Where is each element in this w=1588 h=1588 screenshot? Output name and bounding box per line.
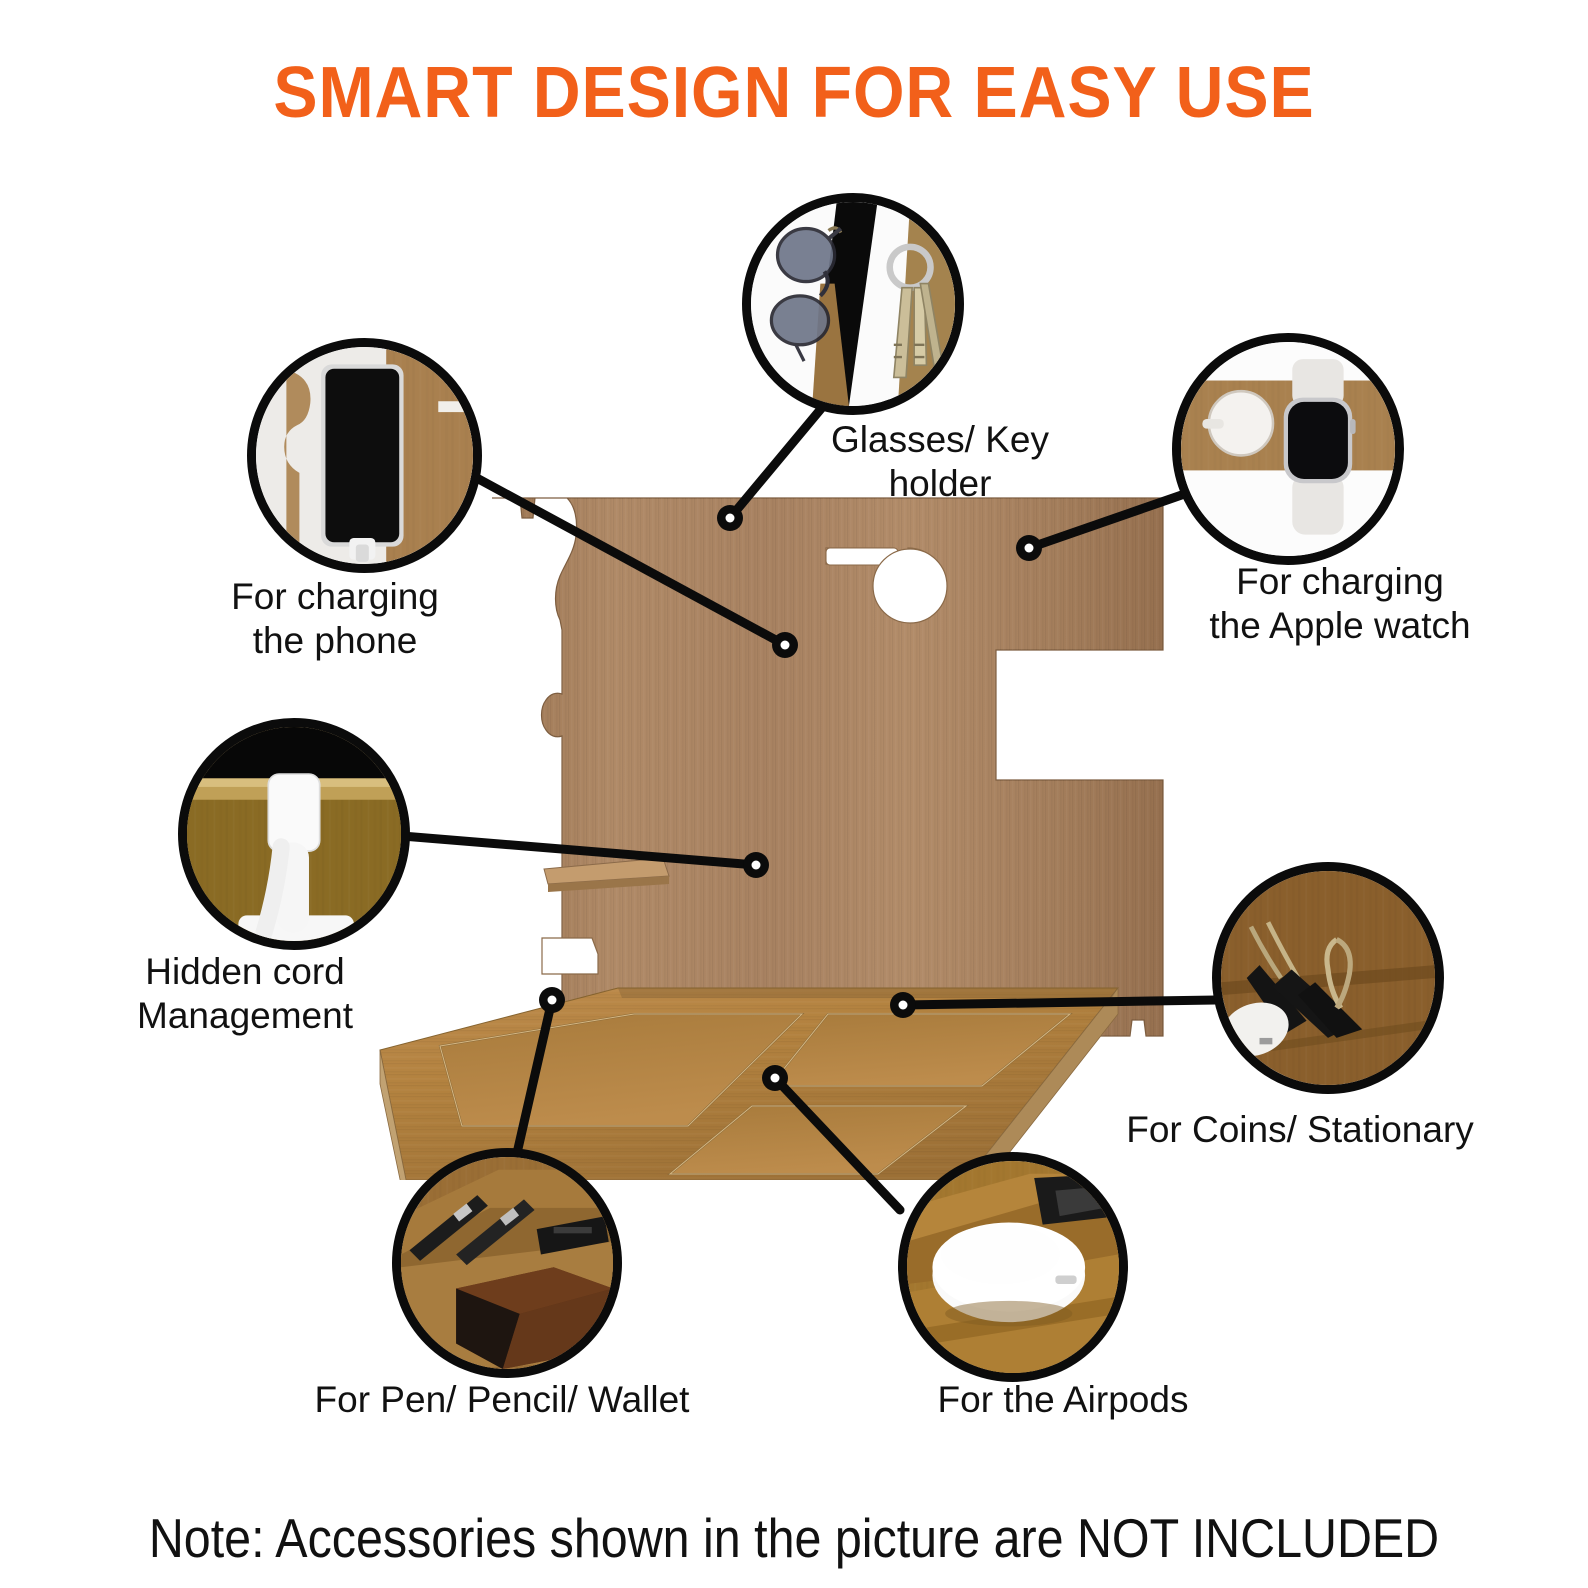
page-title: SMART DESIGN FOR EASY USE [64, 52, 1525, 134]
cord-slot [542, 938, 598, 974]
callout-apple-watch-charging [1172, 333, 1404, 565]
cord-slot-photo-icon [187, 727, 401, 941]
glasses-keys-photo-icon [751, 202, 955, 406]
callout-hidden-cord-management [178, 718, 410, 950]
callout-airpods [898, 1152, 1128, 1382]
label-hidden-cord-management: Hidden cord Management [90, 950, 400, 1037]
apple-watch-photo-icon [1181, 342, 1395, 556]
airpods-case-photo-icon [907, 1161, 1119, 1373]
label-airpods: For the Airpods [898, 1378, 1228, 1422]
callout-coins-stationary [1212, 862, 1444, 1094]
label-glasses-key-holder: Glasses/ Key holder [800, 418, 1080, 505]
callout-phone-charging [247, 338, 482, 573]
label-apple-watch-charging: For charging the Apple watch [1175, 560, 1505, 647]
label-phone-charging: For charging the phone [160, 575, 510, 662]
infographic-page: SMART DESIGN FOR EASY USE [0, 0, 1588, 1588]
label-pen-pencil-wallet: For Pen/ Pencil/ Wallet [292, 1378, 712, 1422]
pens-wallet-photo-icon [401, 1157, 613, 1369]
binder-clips-photo-icon [1221, 871, 1435, 1085]
disclaimer-note: Note: Accessories shown in the picture a… [95, 1506, 1492, 1570]
callout-pen-pencil-wallet [392, 1148, 622, 1378]
phone-dock-photo-icon [256, 347, 473, 564]
label-coins-stationary: For Coins/ Stationary [1110, 1108, 1490, 1152]
callout-glasses-key-holder [742, 193, 964, 415]
